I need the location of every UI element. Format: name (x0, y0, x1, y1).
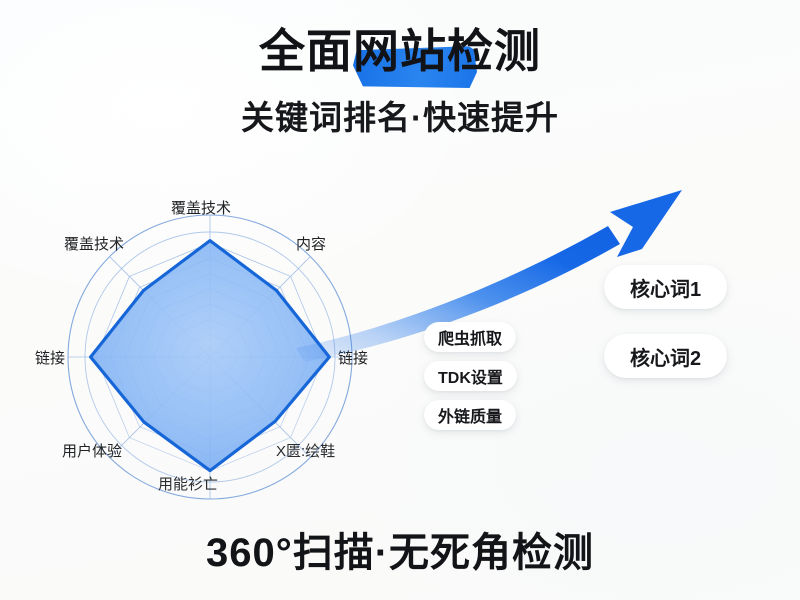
feature-pill-label: TDK设置 (438, 364, 503, 388)
feature-pill-tdk[interactable]: TDK设置 (424, 361, 517, 391)
keyword-pill-2[interactable]: 核心词2 (604, 334, 727, 378)
feature-pill-crawl[interactable]: 爬虫抓取 (424, 322, 516, 352)
title-segment-1: 全面 (259, 25, 353, 77)
poster-stage: 全面网站检测 关键词排名·快速提升 (0, 0, 800, 600)
arrow-head (610, 190, 682, 257)
radar-axis-label-bottom: 用能衫亡 (158, 473, 218, 494)
title-block: 全面网站检测 关键词排名·快速提升 (0, 26, 800, 139)
feature-pill-label: 爬虫抓取 (438, 325, 502, 349)
page-title: 全面网站检测 (259, 26, 541, 77)
title-segment-highlight: 网站 (353, 25, 447, 77)
radar-axis-label-top-left: 覆盖技术 (64, 233, 124, 254)
radar-axis-label-top: 覆盖技术 (171, 197, 231, 218)
title-segment-2: 检测 (447, 25, 541, 77)
feature-pill-backlink[interactable]: 外链质量 (424, 400, 516, 430)
page-subtitle: 关键词排名·快速提升 (0, 91, 800, 139)
keyword-pill-1[interactable]: 核心词1 (604, 265, 727, 309)
keyword-pill-label: 核心词2 (630, 342, 701, 371)
radar-axis-label-bottom-left: 用户体验 (62, 440, 122, 461)
feature-pill-label: 外链质量 (438, 403, 502, 427)
radar-axis-label-bottom-right: X匮:绘鞋 (276, 440, 335, 461)
radar-chart: 覆盖技术 内容 链接 X匮:绘鞋 用能衫亡 用户体验 链接 覆盖技术 (38, 185, 383, 530)
radar-axis-label-left: 链接 (35, 347, 65, 368)
keyword-pill-label: 核心词1 (630, 273, 701, 302)
footer-tagline: 360°扫描·无死角检测 (0, 520, 800, 578)
radar-axis-label-right: 链接 (338, 347, 368, 368)
radar-axis-label-top-right: 内容 (296, 233, 326, 254)
radar-series-polygon (91, 241, 330, 471)
